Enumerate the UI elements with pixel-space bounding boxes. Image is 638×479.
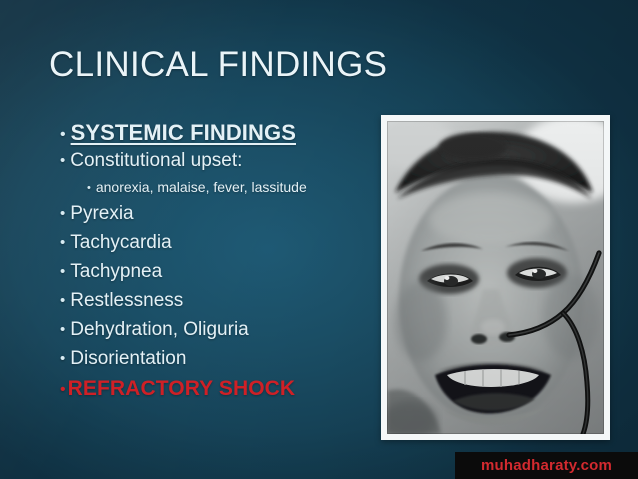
clinical-photo-illustration <box>387 121 604 434</box>
presentation-slide: CLINICAL FINDINGS • SYSTEMIC FINDINGS • … <box>0 0 638 479</box>
list-item-alert-label: REFRACTORY SHOCK <box>68 377 296 401</box>
bullet-list: • SYSTEMIC FINDINGS • Constitutional ups… <box>60 120 378 401</box>
list-item-label: Tachycardia <box>70 232 171 254</box>
list-item: • Restlessness <box>60 290 378 312</box>
list-item-label: Pyrexia <box>70 203 133 225</box>
bullet-icon: • <box>87 183 91 194</box>
bullet-icon: • <box>60 351 65 366</box>
list-item-label: Constitutional upset: <box>70 150 242 172</box>
sub-list-item: • anorexia, malaise, fever, lassitude <box>87 179 378 195</box>
bullet-icon: • <box>60 235 65 250</box>
watermark-bar: muhadharaty.com <box>455 452 638 479</box>
bullet-icon: • <box>60 153 65 168</box>
sub-list-item-label: anorexia, malaise, fever, lassitude <box>96 179 307 195</box>
list-item: • Tachypnea <box>60 261 378 283</box>
list-item: • Tachycardia <box>60 232 378 254</box>
list-item-label: Restlessness <box>70 290 183 312</box>
list-item-label: SYSTEMIC FINDINGS <box>71 120 296 146</box>
list-item-label: Tachypnea <box>70 261 162 283</box>
list-item: • Constitutional upset: <box>60 150 378 172</box>
bullet-icon: • <box>60 206 65 221</box>
list-item: • Pyrexia <box>60 203 378 225</box>
clinical-photo-frame <box>381 115 610 440</box>
bullet-icon: • <box>60 322 65 337</box>
bullet-icon: • <box>60 293 65 308</box>
watermark-label: muhadharaty.com <box>481 457 612 474</box>
bullet-icon: • <box>60 382 66 398</box>
list-item-alert: • REFRACTORY SHOCK <box>60 377 378 401</box>
list-item-label: Disorientation <box>70 348 186 370</box>
list-item: • SYSTEMIC FINDINGS <box>60 120 378 146</box>
list-item-label: Dehydration, Oliguria <box>70 319 248 341</box>
list-item: • Dehydration, Oliguria <box>60 319 378 341</box>
bullet-icon: • <box>60 127 66 143</box>
clinical-photo <box>387 121 604 434</box>
list-item: • Disorientation <box>60 348 378 370</box>
bullet-icon: • <box>60 264 65 279</box>
slide-title: CLINICAL FINDINGS <box>49 45 387 85</box>
